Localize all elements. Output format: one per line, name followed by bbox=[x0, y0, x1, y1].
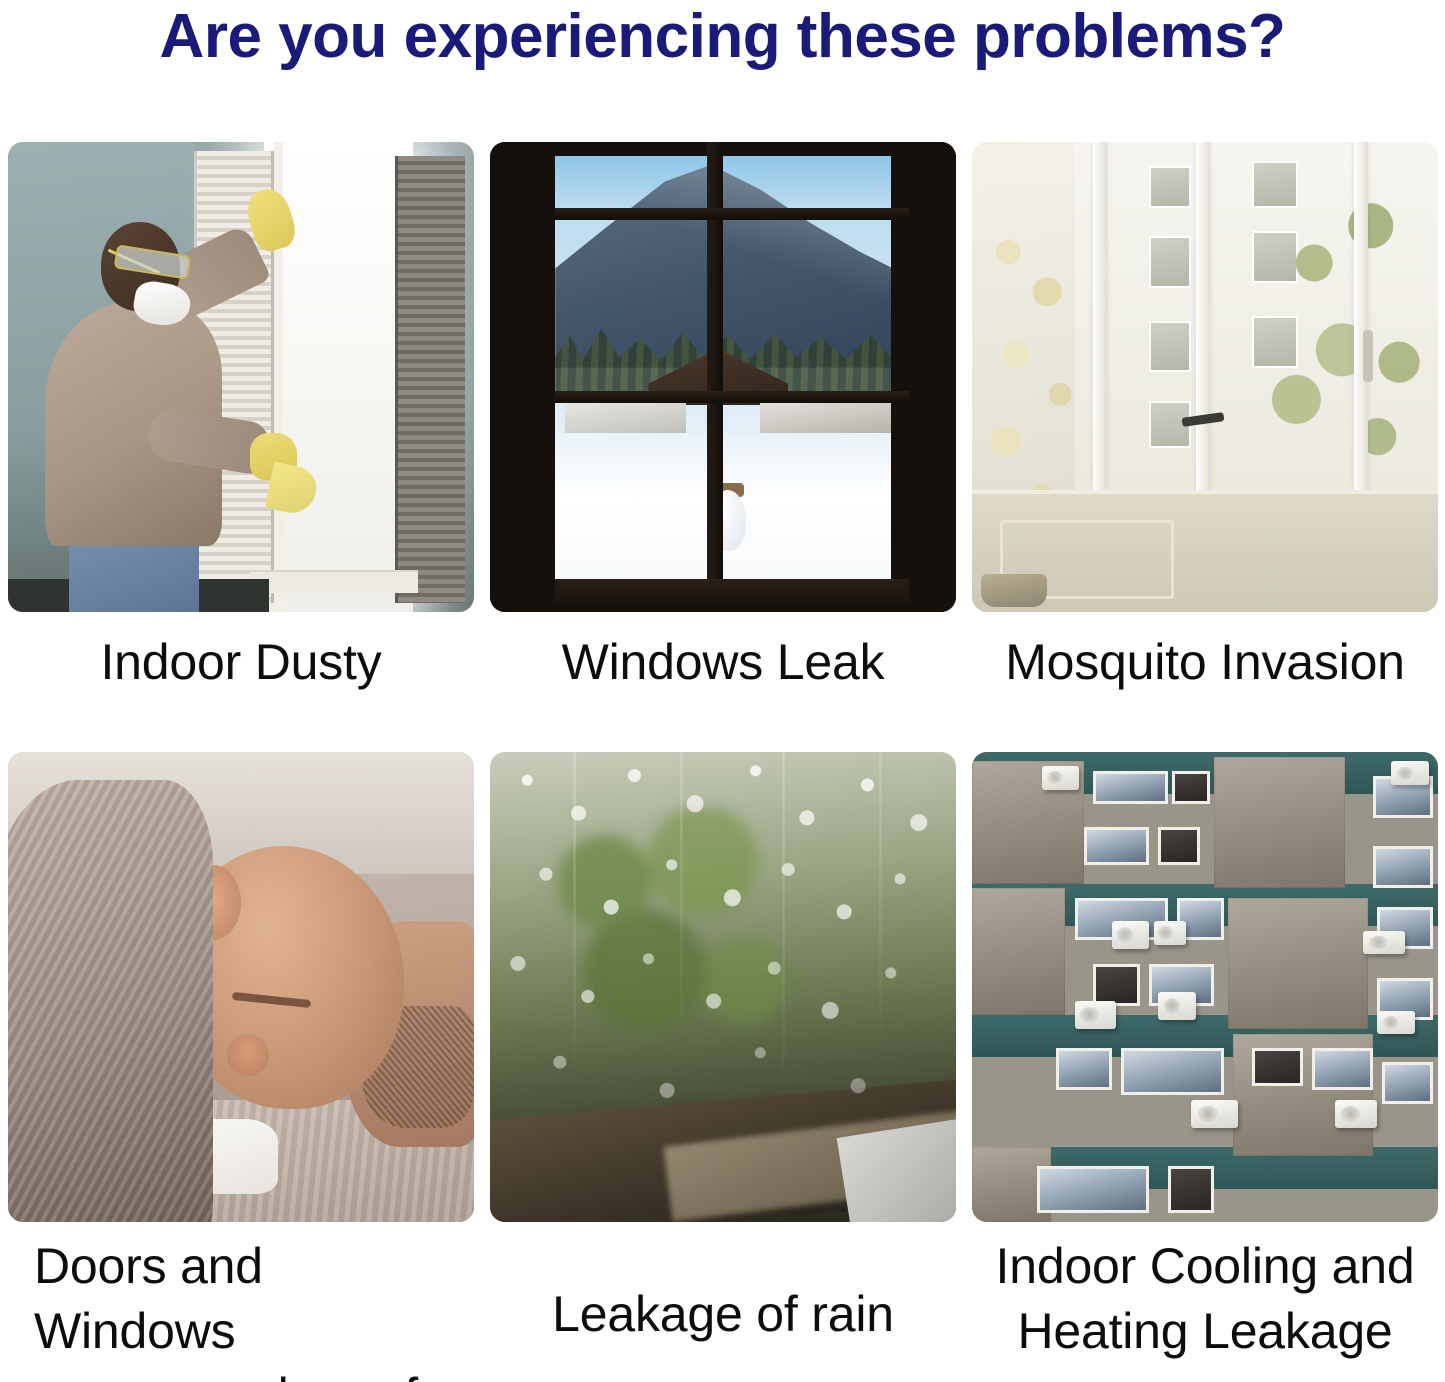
caption-windows-leak: Windows Leak bbox=[490, 612, 956, 752]
baby-nose-shape bbox=[227, 1034, 269, 1076]
caption-line: Heating Leakage bbox=[972, 1299, 1438, 1364]
air-conditioner-unit bbox=[1377, 1011, 1414, 1035]
tile-indoor-cooling-and-heating-leakage[interactable] bbox=[972, 752, 1438, 1222]
photo-cooling-heating-leakage bbox=[972, 752, 1438, 1222]
window-mullion-top-shape bbox=[555, 208, 909, 220]
window-mullion-middle-shape bbox=[555, 391, 909, 403]
tile-doors-and-windows-are-sound-proof[interactable] bbox=[8, 752, 474, 1222]
concrete-panel-shape bbox=[972, 888, 1065, 1015]
tile-windows-leak[interactable] bbox=[490, 142, 956, 612]
air-conditioner-unit bbox=[1075, 1001, 1117, 1029]
exterior-window-shape bbox=[1149, 166, 1191, 208]
caption-line: Mosquito Invasion bbox=[972, 630, 1438, 695]
caption-line: Doors and Windows bbox=[34, 1234, 474, 1364]
infographic-page: Are you experiencing these problems? bbox=[0, 0, 1445, 1382]
caption-line: Leakage of rain bbox=[490, 1282, 956, 1347]
window-sill-shape bbox=[250, 570, 418, 594]
photo-windows-leak bbox=[490, 142, 956, 612]
window-corner-shape bbox=[837, 1119, 956, 1222]
facade-window-shape bbox=[1084, 827, 1149, 865]
facade-window-shape bbox=[1312, 1048, 1373, 1090]
outdoor-foliage-shape bbox=[1261, 170, 1438, 480]
window-handle-shape bbox=[1363, 330, 1373, 382]
caption-leakage-of-rain: Leakage of rain bbox=[490, 1216, 956, 1382]
blanket-knit-shape bbox=[8, 780, 213, 1222]
air-conditioner-unit bbox=[1042, 766, 1079, 790]
caption-line: Indoor Cooling and bbox=[972, 1234, 1438, 1299]
caption-mosquito-invasion: Mosquito Invasion bbox=[972, 612, 1438, 752]
air-conditioner-unit bbox=[1391, 761, 1428, 785]
facade-window-shape bbox=[1382, 1062, 1433, 1104]
caption-line: Indoor Dusty bbox=[8, 630, 474, 695]
tile-mosquito-invasion[interactable] bbox=[972, 142, 1438, 612]
facade-window-shape bbox=[1037, 1166, 1149, 1213]
facade-window-shape bbox=[1172, 771, 1209, 804]
caption-doors-and-windows-are-sound-proof: Doors and Windows are sound-proof bbox=[8, 1216, 474, 1382]
window-frame-left-shape bbox=[490, 142, 555, 612]
page-title: Are you experiencing these problems? bbox=[0, 2, 1445, 71]
concrete-panel-shape bbox=[1214, 757, 1344, 889]
facade-window-shape bbox=[1158, 827, 1200, 865]
photo-indoor-dusty bbox=[8, 142, 474, 612]
photo-leakage-of-rain bbox=[490, 752, 956, 1222]
facade-window-shape bbox=[1056, 1048, 1112, 1090]
air-conditioner-unit bbox=[1191, 1100, 1238, 1128]
window-frame-top-shape bbox=[490, 142, 956, 156]
photo-sound-proof bbox=[8, 752, 474, 1222]
facade-window-shape bbox=[1252, 1048, 1303, 1086]
tile-leakage-of-rain[interactable] bbox=[490, 752, 956, 1222]
photo-mosquito-invasion bbox=[972, 142, 1438, 612]
air-conditioner-unit bbox=[1335, 1100, 1377, 1128]
exterior-window-shape bbox=[1149, 236, 1191, 288]
facade-window-shape bbox=[1093, 964, 1140, 1006]
exterior-window-shape bbox=[1149, 321, 1191, 373]
caption-indoor-cooling-and-heating-leakage: Indoor Cooling and Heating Leakage bbox=[972, 1216, 1438, 1382]
window-frame-bottom-shape bbox=[555, 579, 909, 612]
caption-line: Windows Leak bbox=[490, 630, 956, 695]
air-conditioner-unit bbox=[1154, 921, 1187, 945]
caption-line: are sound-proof bbox=[34, 1364, 474, 1382]
caption-indoor-dusty: Indoor Dusty bbox=[8, 612, 474, 752]
tile-indoor-dusty[interactable] bbox=[8, 142, 474, 612]
concrete-panel-shape bbox=[1228, 898, 1368, 1030]
facade-window-shape bbox=[1121, 1048, 1224, 1095]
plant-vase-shape bbox=[981, 574, 1046, 607]
air-conditioner-unit bbox=[1158, 992, 1195, 1020]
air-conditioner-unit bbox=[1363, 931, 1405, 955]
air-conditioner-unit bbox=[1112, 921, 1149, 949]
facade-window-shape bbox=[1093, 771, 1168, 804]
problem-grid: Indoor Dusty Windows Leak Mosquito Invas… bbox=[8, 142, 1438, 1377]
facade-window-shape bbox=[1168, 1166, 1215, 1213]
shutter-panel-dark-shape bbox=[395, 156, 465, 603]
facade-window-shape bbox=[1373, 846, 1434, 888]
